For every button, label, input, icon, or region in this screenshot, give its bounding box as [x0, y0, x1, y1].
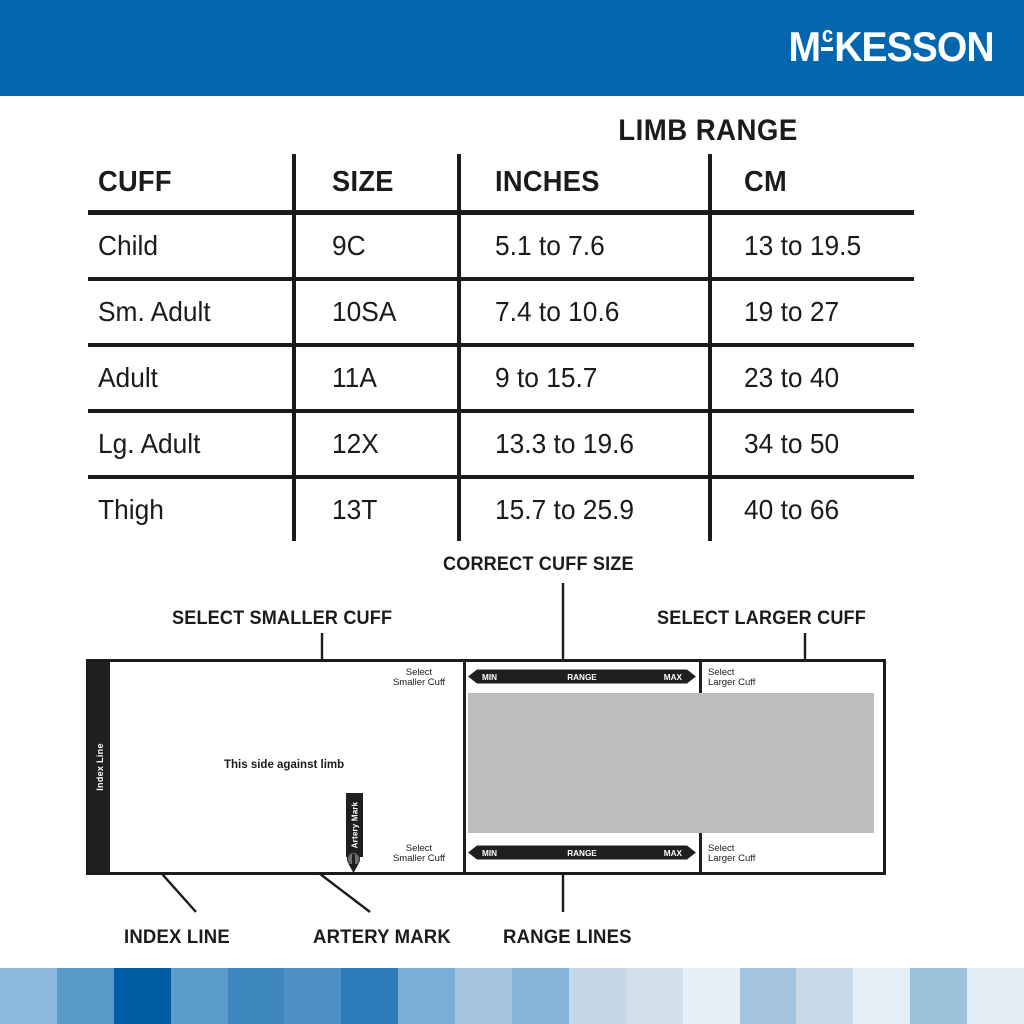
cuff-size-table: CUFF SIZE INCHES CM Child 9C 5.1 to 7.6 …	[88, 154, 914, 541]
footer-color-strip	[0, 968, 1024, 1024]
table-row: Thigh 13T 15.7 to 25.9 40 to 66	[88, 477, 914, 541]
select-larger-line2: Larger Cuff	[708, 678, 790, 688]
cuff-body-panel: This side against limb Artery Mark Selec…	[110, 662, 883, 872]
footer-swatch-6	[341, 968, 398, 1024]
cell-cuff: Lg. Adult	[88, 411, 294, 477]
limb-range-group-header: LIMB RANGE	[524, 114, 892, 148]
cell-cm: 19 to 27	[710, 279, 914, 345]
bottom-label-artery-mark: ARTERY MARK	[313, 926, 451, 949]
index-line-label: Index Line	[95, 743, 105, 791]
footer-swatch-13	[740, 968, 797, 1024]
cell-inches: 7.4 to 10.6	[459, 279, 710, 345]
cell-size: 13T	[294, 477, 459, 541]
bottom-label-range-lines: RANGE LINES	[503, 926, 632, 949]
footer-swatch-15	[853, 968, 910, 1024]
callout-select-smaller-cuff: SELECT SMALLER CUFF	[172, 608, 392, 630]
footer-swatch-16	[910, 968, 967, 1024]
cell-inches: 9 to 15.7	[459, 345, 710, 411]
artery-mark-label: Artery Mark	[350, 802, 359, 849]
range-bar-min-text: MIN	[482, 673, 497, 682]
footer-swatch-2	[114, 968, 171, 1024]
app-header: McKESSON	[0, 0, 1024, 96]
artery-mark-marker: Artery Mark	[346, 793, 363, 857]
cell-size: 12X	[294, 411, 459, 477]
artery-mark-arrow-icon	[344, 852, 363, 874]
index-line-marker: Index Line	[89, 662, 110, 872]
cell-cuff: Adult	[88, 345, 294, 411]
callout-select-larger-cuff: SELECT LARGER CUFF	[657, 608, 866, 630]
diagram-bottom-labels: INDEX LINE ARTERY MARK RANGE LINES	[0, 920, 1024, 966]
select-larger-cuff-bottom: Select Larger Cuff	[702, 844, 790, 865]
cell-cm: 23 to 40	[710, 345, 914, 411]
table-head: CUFF SIZE INCHES CM	[88, 154, 914, 213]
cell-cuff: Child	[88, 213, 294, 280]
logo-letter-m: M	[789, 26, 821, 68]
footer-swatch-12	[683, 968, 740, 1024]
column-header-cuff: CUFF	[88, 154, 294, 213]
column-header-cm: CM	[710, 154, 914, 213]
logo-superscript-c: c	[821, 24, 833, 51]
select-smaller-cuff-bottom: Select Smaller Cuff	[378, 844, 460, 865]
range-bar-max-text: MAX	[664, 849, 683, 858]
bottom-label-index-line: INDEX LINE	[124, 926, 230, 949]
range-bar-range-text: RANGE	[567, 673, 597, 682]
table-row: Child 9C 5.1 to 7.6 13 to 19.5	[88, 213, 914, 280]
range-bar-min-text: MIN	[482, 849, 497, 858]
select-larger-cuff-top: Select Larger Cuff	[702, 668, 790, 689]
cell-cm: 34 to 50	[710, 411, 914, 477]
select-larger-line2: Larger Cuff	[708, 854, 790, 864]
cuff-bladder-area	[468, 693, 874, 833]
mckesson-logo: McKESSON	[789, 26, 994, 68]
cell-size: 9C	[294, 213, 459, 280]
footer-swatch-17	[967, 968, 1024, 1024]
callout-labels: CORRECT CUFF SIZE SELECT SMALLER CUFF SE…	[0, 540, 1024, 660]
cell-inches: 5.1 to 7.6	[459, 213, 710, 280]
select-smaller-cuff-top: Select Smaller Cuff	[378, 668, 460, 689]
column-header-size: SIZE	[294, 154, 459, 213]
cuff-size-table-region: LIMB RANGE CUFF SIZE INCHES CM Child 9C …	[0, 96, 1024, 536]
column-header-inches: INCHES	[459, 154, 710, 213]
select-smaller-line2: Smaller Cuff	[378, 678, 460, 688]
footer-swatch-11	[626, 968, 683, 1024]
against-limb-text: This side against limb	[224, 759, 344, 771]
footer-swatch-3	[171, 968, 228, 1024]
blood-pressure-cuff-diagram: Index Line This side against limb Artery…	[86, 659, 886, 875]
footer-swatch-8	[455, 968, 512, 1024]
footer-swatch-4	[228, 968, 285, 1024]
table-row: Adult 11A 9 to 15.7 23 to 40	[88, 345, 914, 411]
cell-size: 10SA	[294, 279, 459, 345]
cell-cuff: Sm. Adult	[88, 279, 294, 345]
cell-cm: 13 to 19.5	[710, 213, 914, 280]
table-row: Lg. Adult 12X 13.3 to 19.6 34 to 50	[88, 411, 914, 477]
footer-swatch-1	[57, 968, 114, 1024]
cell-cm: 40 to 66	[710, 477, 914, 541]
table-row: Sm. Adult 10SA 7.4 to 10.6 19 to 27	[88, 279, 914, 345]
cell-cuff: Thigh	[88, 477, 294, 541]
cell-size: 11A	[294, 345, 459, 411]
range-bar-top: MIN RANGE MAX	[468, 669, 696, 684]
footer-swatch-9	[512, 968, 569, 1024]
footer-swatch-5	[284, 968, 341, 1024]
footer-swatch-0	[0, 968, 57, 1024]
range-bar-max-text: MAX	[664, 673, 683, 682]
footer-swatch-7	[398, 968, 455, 1024]
callout-correct-cuff-size: CORRECT CUFF SIZE	[443, 554, 634, 576]
select-smaller-line2: Smaller Cuff	[378, 854, 460, 864]
footer-swatch-10	[569, 968, 626, 1024]
footer-swatch-14	[796, 968, 853, 1024]
table-header-row: CUFF SIZE INCHES CM	[88, 154, 914, 213]
range-divider-left	[463, 662, 466, 872]
logo-text-kesson: KESSON	[835, 26, 994, 68]
cell-inches: 15.7 to 25.9	[459, 477, 710, 541]
cell-inches: 13.3 to 19.6	[459, 411, 710, 477]
range-bar-bottom: MIN RANGE MAX	[468, 845, 696, 860]
table-body: Child 9C 5.1 to 7.6 13 to 19.5 Sm. Adult…	[88, 213, 914, 542]
range-bar-range-text: RANGE	[567, 849, 597, 858]
